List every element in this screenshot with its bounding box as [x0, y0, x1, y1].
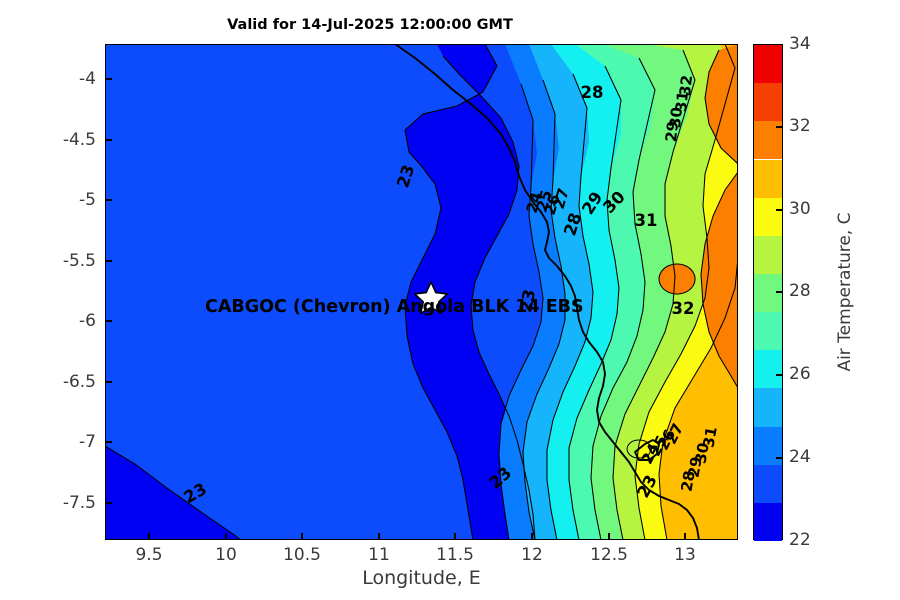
- colorbar-segment: [754, 160, 782, 198]
- colorbar-tick-label: 22: [789, 530, 811, 550]
- x-tick: [608, 533, 610, 540]
- y-tick-label: -7.5: [44, 493, 96, 513]
- y-tick: [105, 320, 112, 322]
- y-tick: [105, 381, 112, 383]
- filled-contour-bands: [105, 44, 738, 540]
- contour-plot-svg: 23 23 23 23 23 24 25 26 27 28 28 29 30 3…: [105, 44, 738, 540]
- x-tick-label: 11: [368, 545, 390, 565]
- colorbar-segment: [754, 45, 782, 83]
- y-tick-label: -4.5: [44, 130, 96, 150]
- x-tick: [684, 533, 686, 540]
- colorbar-tick-label: 28: [789, 281, 811, 301]
- y-tick: [105, 78, 112, 80]
- colorbar-tick-label: 26: [789, 364, 811, 384]
- x-tick-label: 12: [521, 545, 543, 565]
- colorbar-segment: [754, 388, 782, 426]
- colorbar-tick: [776, 374, 783, 376]
- x-tick: [454, 533, 456, 540]
- y-tick-label: -6.5: [44, 372, 96, 392]
- y-tick-label: -5: [44, 190, 96, 210]
- contour-map-figure: Valid for 14-Jul-2025 12:00:00 GMT: [0, 0, 900, 600]
- y-tick-label: -4: [44, 69, 96, 89]
- contour-label: 28: [581, 83, 604, 102]
- colorbar-segment: [754, 312, 782, 350]
- colorbar-segment: [754, 274, 782, 312]
- x-tick-label: 13: [674, 545, 696, 565]
- x-tick-label: 10: [215, 545, 237, 565]
- contour-label: 32: [676, 74, 696, 97]
- x-tick: [148, 533, 150, 540]
- colorbar-title: Air Temperature, C: [835, 212, 855, 371]
- x-tick: [301, 533, 303, 540]
- colorbar-tick: [776, 209, 783, 211]
- x-tick-label: 9.5: [135, 545, 162, 565]
- contour-label: 32: [672, 299, 695, 318]
- colorbar-tick: [776, 291, 783, 293]
- colorbar-segment: [754, 83, 782, 121]
- x-tick: [531, 533, 533, 540]
- colorbar-tick-label: 30: [789, 199, 811, 219]
- site-label: CABGOC (Chevron) Angola BLK 14 EBS: [205, 297, 584, 317]
- contour-label: 31: [699, 425, 720, 449]
- y-tick: [105, 260, 112, 262]
- colorbar-segment: [754, 427, 782, 465]
- y-tick-label: -6: [44, 311, 96, 331]
- x-tick-label: 10.5: [283, 545, 321, 565]
- colorbar-tick-label: 24: [789, 447, 811, 467]
- y-tick-label: -5.5: [44, 251, 96, 271]
- contour-label: 31: [635, 211, 658, 230]
- colorbar-segment: [754, 236, 782, 274]
- y-tick-label: -7: [44, 432, 96, 452]
- y-tick: [105, 199, 112, 201]
- x-axis-title: Longitude, E: [105, 567, 738, 589]
- x-tick-label: 11.5: [436, 545, 474, 565]
- y-tick: [105, 441, 112, 443]
- y-tick: [105, 139, 112, 141]
- x-tick: [378, 533, 380, 540]
- plot-area: 23 23 23 23 23 24 25 26 27 28 28 29 30 3…: [105, 44, 738, 540]
- colorbar-segment: [754, 350, 782, 388]
- x-tick: [225, 533, 227, 540]
- colorbar-segment: [754, 465, 782, 503]
- colorbar-segment: [754, 198, 782, 236]
- colorbar-tick-label: 34: [789, 34, 811, 54]
- x-tick-label: 12.5: [590, 545, 628, 565]
- colorbar-tick: [776, 126, 783, 128]
- y-tick: [105, 502, 112, 504]
- colorbar-segment: [754, 503, 782, 541]
- colorbar-tick-label: 32: [789, 116, 811, 136]
- figure-title: Valid for 14-Jul-2025 12:00:00 GMT: [0, 17, 740, 33]
- colorbar-tick: [776, 457, 783, 459]
